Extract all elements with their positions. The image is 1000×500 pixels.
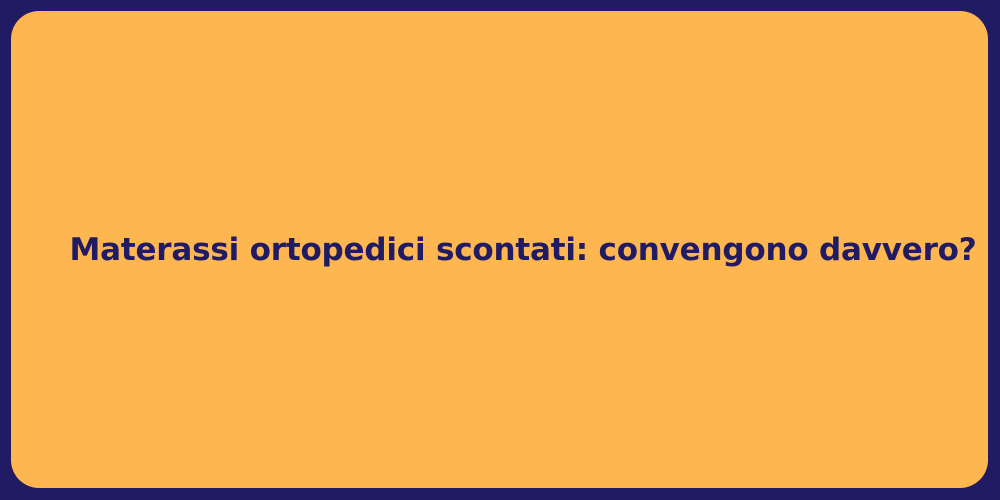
card-frame: Materassi ortopedici scontati: convengon… bbox=[0, 0, 1000, 500]
card-title: Materassi ortopedici scontati: convengon… bbox=[30, 231, 970, 270]
card-panel: Materassi ortopedici scontati: convengon… bbox=[11, 11, 988, 488]
